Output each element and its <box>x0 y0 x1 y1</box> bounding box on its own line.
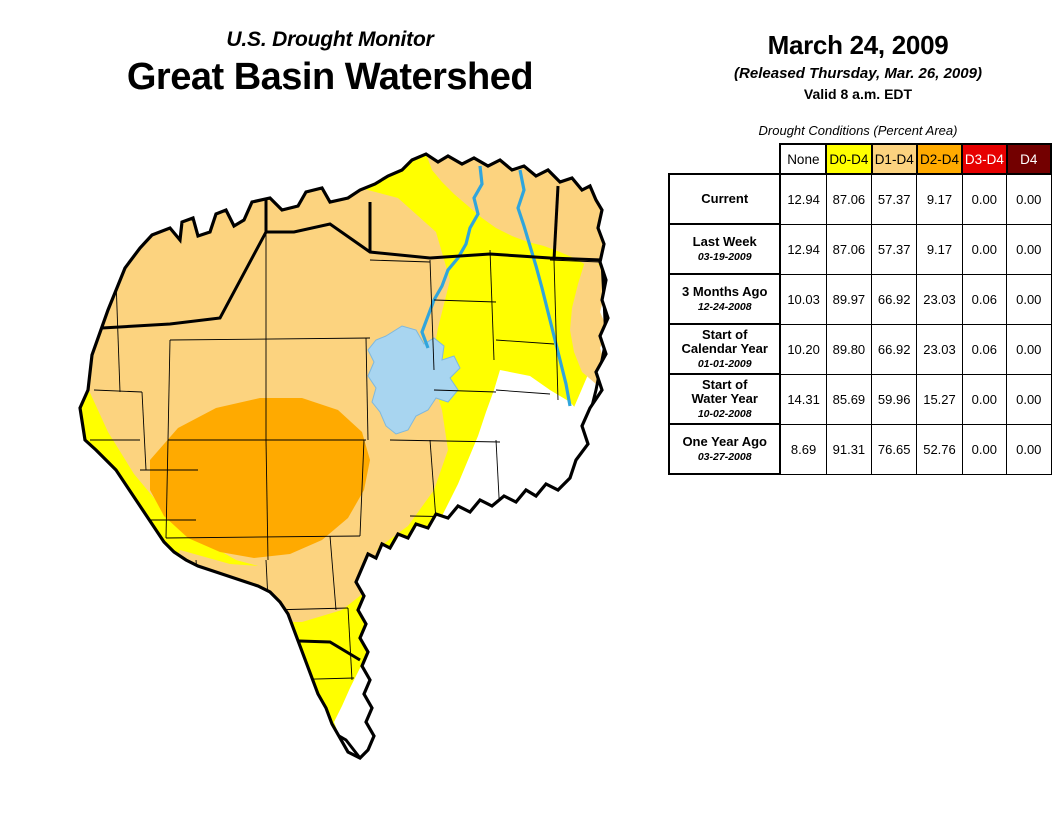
table-cell-value: 8.69 <box>780 424 826 474</box>
table-cell-value: 10.03 <box>780 274 826 324</box>
table-cell-value: 0.06 <box>962 324 1006 374</box>
table-row-label: Start ofCalendar Year01-01-2009 <box>669 324 780 374</box>
row-label-text: Start ofWater Year <box>691 377 758 407</box>
table-cell-value: 12.94 <box>780 174 826 224</box>
table-row-label: One Year Ago03-27-2008 <box>669 424 780 474</box>
map-panel: U.S. Drought Monitor Great Basin Watersh… <box>0 0 660 816</box>
table-row-label: Last Week03-19-2009 <box>669 224 780 274</box>
table-cell-value: 89.97 <box>826 274 871 324</box>
drought-conditions-table: NoneD0-D4D1-D4D2-D4D3-D4D4 Current12.948… <box>668 143 1052 475</box>
table-col-header-d2-d4: D2-D4 <box>917 144 962 174</box>
report-date: March 24, 2009 <box>660 30 1056 61</box>
table-col-header-d3-d4: D3-D4 <box>962 144 1006 174</box>
table-cell-value: 0.00 <box>1007 174 1051 224</box>
title-block: U.S. Drought Monitor Great Basin Watersh… <box>0 28 660 99</box>
table-row-label: Start ofWater Year10-02-2008 <box>669 374 780 424</box>
table-row: Start ofWater Year10-02-200814.3185.6959… <box>669 374 1051 424</box>
table-cell-value: 0.00 <box>1007 324 1051 374</box>
table-cell-value: 59.96 <box>872 374 917 424</box>
table-cell-value: 0.00 <box>1007 224 1051 274</box>
page-subtitle: U.S. Drought Monitor <box>0 28 660 52</box>
table-row-label: Current <box>669 174 780 224</box>
table-cell-value: 0.00 <box>1007 424 1051 474</box>
table-cell-value: 0.00 <box>962 374 1006 424</box>
table-cell-value: 66.92 <box>872 324 917 374</box>
table-cell-value: 14.31 <box>780 374 826 424</box>
table-col-header-d1-d4: D1-D4 <box>872 144 917 174</box>
row-label-date: 01-01-2009 <box>674 358 775 370</box>
map-region-d2-west-sliver-1 <box>56 424 76 450</box>
page-title: Great Basin Watershed <box>0 56 660 99</box>
row-label-text: Start ofCalendar Year <box>681 327 767 357</box>
table-cell-value: 9.17 <box>917 224 962 274</box>
table-cell-value: 52.76 <box>917 424 962 474</box>
table-corner-cell <box>669 144 780 174</box>
table-header-row: NoneD0-D4D1-D4D2-D4D3-D4D4 <box>669 144 1051 174</box>
date-block: March 24, 2009 (Released Thursday, Mar. … <box>660 30 1056 102</box>
map-region-d2-west-sliver-2 <box>46 474 70 506</box>
table-col-header-none: None <box>780 144 826 174</box>
table-caption: Drought Conditions (Percent Area) <box>660 123 1056 138</box>
table-cell-value: 87.06 <box>826 224 871 274</box>
drought-map[interactable] <box>30 140 650 780</box>
table-cell-value: 0.00 <box>1007 274 1051 324</box>
row-label-date: 03-19-2009 <box>674 251 775 263</box>
table-cell-value: 66.92 <box>872 274 917 324</box>
row-label-text: One Year Ago <box>682 434 767 449</box>
table-cell-value: 10.20 <box>780 324 826 374</box>
table-cell-value: 15.27 <box>917 374 962 424</box>
table-col-header-d0-d4: D0-D4 <box>826 144 871 174</box>
table-cell-value: 85.69 <box>826 374 871 424</box>
table-row: Last Week03-19-200912.9487.0657.379.170.… <box>669 224 1051 274</box>
table-row: One Year Ago03-27-20088.6991.3176.6552.7… <box>669 424 1051 474</box>
row-label-text: Last Week <box>693 234 757 249</box>
table-cell-value: 9.17 <box>917 174 962 224</box>
row-label-date: 03-27-2008 <box>674 451 775 463</box>
table-cell-value: 0.06 <box>962 274 1006 324</box>
row-label-text: Current <box>701 191 748 206</box>
table-cell-value: 0.00 <box>962 174 1006 224</box>
table-cell-value: 76.65 <box>872 424 917 474</box>
table-cell-value: 23.03 <box>917 274 962 324</box>
table-cell-value: 23.03 <box>917 324 962 374</box>
table-cell-value: 87.06 <box>826 174 871 224</box>
table-cell-value: 91.31 <box>826 424 871 474</box>
table-cell-value: 57.37 <box>872 224 917 274</box>
table-row: Start ofCalendar Year01-01-200910.2089.8… <box>669 324 1051 374</box>
table-cell-value: 89.80 <box>826 324 871 374</box>
row-label-date: 10-02-2008 <box>674 408 775 420</box>
row-label-date: 12-24-2008 <box>674 301 775 313</box>
info-panel: March 24, 2009 (Released Thursday, Mar. … <box>660 0 1056 816</box>
valid-time: Valid 8 a.m. EDT <box>660 86 1056 102</box>
row-label-text: 3 Months Ago <box>682 284 767 299</box>
table-cell-value: 57.37 <box>872 174 917 224</box>
table-col-header-d4: D4 <box>1007 144 1051 174</box>
table-cell-value: 0.00 <box>1007 374 1051 424</box>
map-water-lake-tahoe <box>64 477 80 507</box>
table-cell-value: 12.94 <box>780 224 826 274</box>
table-row: Current12.9487.0657.379.170.000.00 <box>669 174 1051 224</box>
table-row-label: 3 Months Ago12-24-2008 <box>669 274 780 324</box>
table-cell-value: 0.00 <box>962 224 1006 274</box>
release-date: (Released Thursday, Mar. 26, 2009) <box>660 65 1056 82</box>
table-cell-value: 0.00 <box>962 424 1006 474</box>
table-row: 3 Months Ago12-24-200810.0389.9766.9223.… <box>669 274 1051 324</box>
map-drought-layers <box>30 140 650 780</box>
table-body: Current12.9487.0657.379.170.000.00Last W… <box>669 174 1051 474</box>
